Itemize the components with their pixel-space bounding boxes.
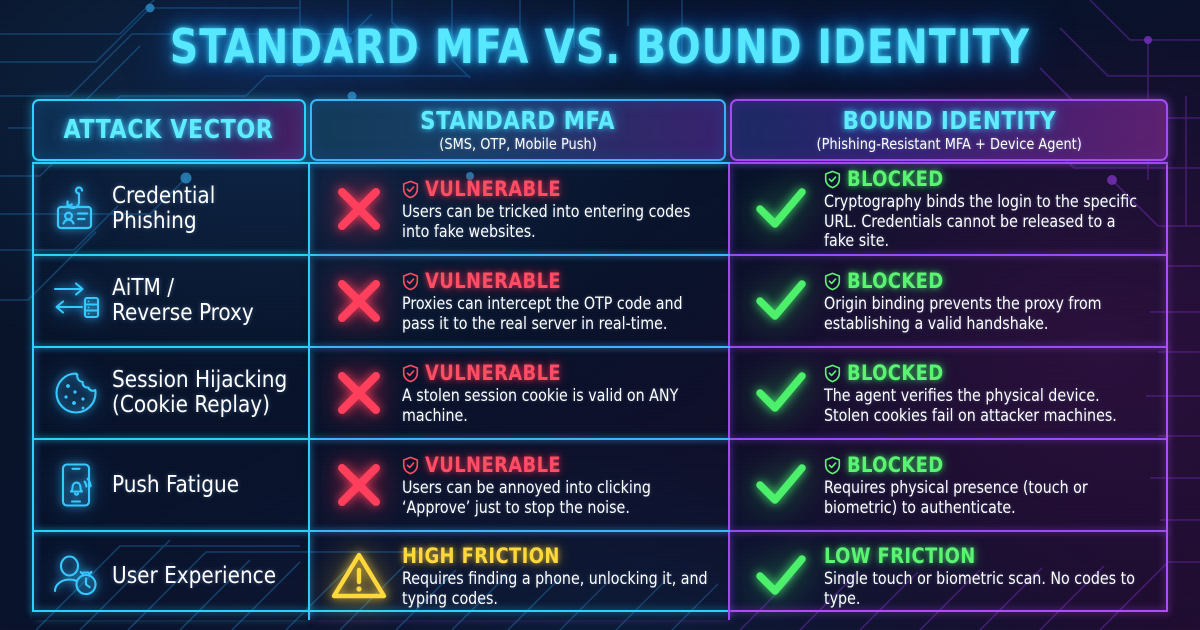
mfa-verdict-cell: VULNERABLE Proxies can intercept the OTP… [310,256,730,346]
vector-cell: AiTM / Reverse Proxy [32,256,310,346]
mfa-verdict-cell: VULNERABLE Users can be tricked into ent… [310,164,730,254]
table-row: User Experience HIGH FRICTION Requires f… [32,532,1168,620]
shield-check-icon [402,456,419,475]
shield-check-icon [402,364,419,383]
verdict-description: The agent verifies the physical device. … [824,386,1147,425]
header-title-attack-vector: ATTACK VECTOR [64,117,274,144]
vector-cell: Push Fatigue [32,440,310,530]
check-mark-icon [744,539,818,613]
header-title-standard-mfa: STANDARD MFA [421,107,616,134]
verdict-label: VULNERABLE [425,269,561,293]
comparison-table: ATTACK VECTOR STANDARD MFA (SMS, OTP, Mo… [32,98,1168,612]
table-row: Session Hijacking (Cookie Replay) [32,348,1168,438]
header-cell-standard-mfa: STANDARD MFA (SMS, OTP, Mobile Push) [310,98,730,162]
mfa-verdict-cell: HIGH FRICTION Requires finding a phone, … [310,532,730,620]
bound-verdict-cell: BLOCKED Cryptography binds the login to … [730,164,1168,254]
user-stopwatch-icon [48,548,104,604]
verdict-label: LOW FRICTION [824,544,976,568]
vector-label: Push Fatigue [112,473,239,498]
shield-check-icon [824,456,841,475]
verdict-description: Single touch or biometric scan. No codes… [824,569,1147,608]
check-mark-icon [744,172,818,246]
arrows-server-proxy-icon [48,273,104,329]
check-mark-icon [744,264,818,338]
verdict-description: Proxies can intercept the OTP code and p… [402,294,715,333]
header-subtitle-bound-identity: (Phishing-Resistant MFA + Device Agent) [816,135,1081,154]
header-title-bound-identity: BOUND IDENTITY [842,107,1056,134]
header-subtitle-standard-mfa: (SMS, OTP, Mobile Push) [439,135,596,154]
mfa-verdict-cell: VULNERABLE A stolen session cookie is va… [310,348,730,438]
check-mark-icon [744,356,818,430]
shield-check-icon [402,272,419,291]
infographic-canvas: STANDARD MFA VS. BOUND IDENTITY ATTACK V… [0,0,1200,630]
verdict-description: Requires physical presence (touch or bio… [824,478,1147,517]
bound-verdict-cell: BLOCKED The agent verifies the physical … [730,348,1168,438]
vector-cell: Session Hijacking (Cookie Replay) [32,348,310,438]
verdict-label: BLOCKED [847,167,944,191]
verdict-description: Users can be annoyed into clicking ‘Appr… [402,478,715,517]
page-title: STANDARD MFA VS. BOUND IDENTITY [42,20,1158,76]
verdict-label: VULNERABLE [425,361,561,385]
header-cell-attack-vector: ATTACK VECTOR [32,98,310,162]
table-row: AiTM / Reverse Proxy [32,256,1168,346]
id-badge-phishing-hook-icon [48,181,104,237]
phone-notification-bell-icon [48,457,104,513]
x-mark-icon [322,264,396,338]
shield-check-icon [824,170,841,189]
verdict-description: Cryptography binds the login to the spec… [824,192,1147,251]
vector-cell: Credential Phishing [32,164,310,254]
x-mark-icon [322,448,396,522]
vector-cell: User Experience [32,532,310,620]
verdict-label: BLOCKED [847,269,944,293]
check-mark-icon [744,448,818,522]
mfa-verdict-cell: VULNERABLE Users can be annoyed into cli… [310,440,730,530]
bound-verdict-cell: BLOCKED Origin binding prevents the prox… [730,256,1168,346]
verdict-label: BLOCKED [847,361,944,385]
x-mark-icon [322,356,396,430]
x-mark-icon [322,172,396,246]
vector-label: AiTM / Reverse Proxy [112,276,254,326]
vector-label: User Experience [112,564,276,589]
verdict-description: Users can be tricked into entering codes… [402,202,715,241]
table-header-row: ATTACK VECTOR STANDARD MFA (SMS, OTP, Mo… [32,98,1168,162]
header-cell-bound-identity: BOUND IDENTITY (Phishing-Resistant MFA +… [730,98,1168,162]
bound-verdict-cell: BLOCKED Requires physical presence (touc… [730,440,1168,530]
vector-label: Credential Phishing [112,184,215,234]
verdict-label: VULNERABLE [425,177,561,201]
verdict-description: Requires finding a phone, unlocking it, … [402,569,715,608]
verdict-label: BLOCKED [847,453,944,477]
vector-label: Session Hijacking (Cookie Replay) [112,368,287,418]
shield-check-icon [402,180,419,199]
verdict-label: VULNERABLE [425,453,561,477]
shield-check-icon [824,364,841,383]
verdict-description: Origin binding prevents the proxy from e… [824,294,1147,333]
cookie-icon [48,365,104,421]
bound-verdict-cell: LOW FRICTION Single touch or biometric s… [730,532,1168,620]
table-row: Push Fatigue [32,440,1168,530]
verdict-label: HIGH FRICTION [402,544,560,568]
shield-check-icon [824,272,841,291]
verdict-description: A stolen session cookie is valid on ANY … [402,386,715,425]
warning-triangle-icon [322,539,396,613]
table-row: Credential Phishing [32,164,1168,254]
